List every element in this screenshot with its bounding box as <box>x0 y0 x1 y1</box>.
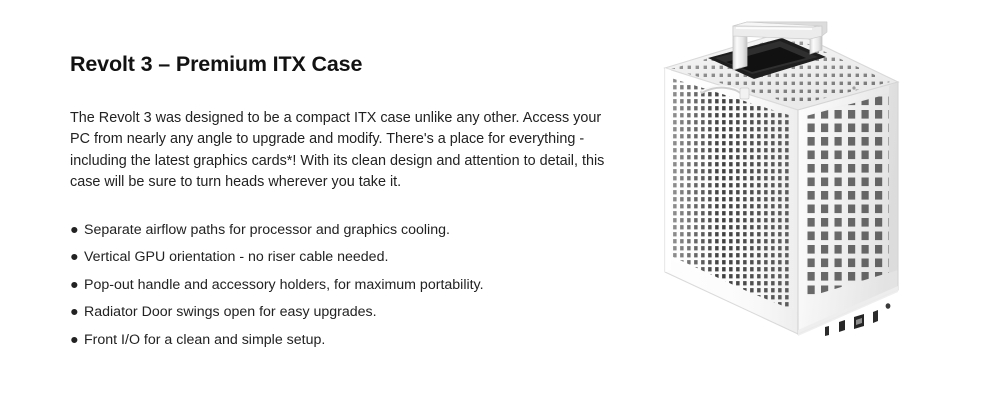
audio-jack-port[interactable] <box>825 326 829 336</box>
feature-text: Radiator Door swings open for easy upgra… <box>84 304 377 320</box>
product-description: The Revolt 3 was designed to be a compac… <box>70 78 615 194</box>
bullet-icon: ● <box>70 330 79 350</box>
power-button[interactable] <box>886 303 891 309</box>
bullet-icon: ● <box>70 220 79 240</box>
page-title: Revolt 3 – Premium ITX Case <box>70 52 615 78</box>
list-item: ● Vertical GPU orientation - no riser ca… <box>70 247 615 275</box>
list-item: ● Separate airflow paths for processor a… <box>70 220 615 248</box>
bullet-icon: ● <box>70 302 79 322</box>
feature-text: Front I/O for a clean and simple setup. <box>84 332 325 348</box>
reset-slot[interactable] <box>873 310 878 323</box>
feature-list: ● Separate airflow paths for processor a… <box>70 194 615 358</box>
bullet-icon: ● <box>70 275 79 295</box>
list-item: ● Pop-out handle and accessory holders, … <box>70 275 615 303</box>
bullet-icon: ● <box>70 247 79 267</box>
usb-a-port[interactable] <box>854 314 864 329</box>
usb-c-port[interactable] <box>839 320 845 332</box>
product-image <box>630 0 1000 400</box>
feature-text: Separate airflow paths for processor and… <box>84 222 450 238</box>
side-mesh-panel <box>665 68 798 334</box>
list-item: ● Radiator Door swings open for easy upg… <box>70 302 615 330</box>
itx-case-illustration <box>630 0 1000 400</box>
list-item: ● Front I/O for a clean and simple setup… <box>70 330 615 358</box>
product-copy-block: Revolt 3 – Premium ITX Case The Revolt 3… <box>70 52 615 357</box>
feature-text: Vertical GPU orientation - no riser cabl… <box>84 249 388 265</box>
feature-text: Pop-out handle and accessory holders, fo… <box>84 277 484 293</box>
